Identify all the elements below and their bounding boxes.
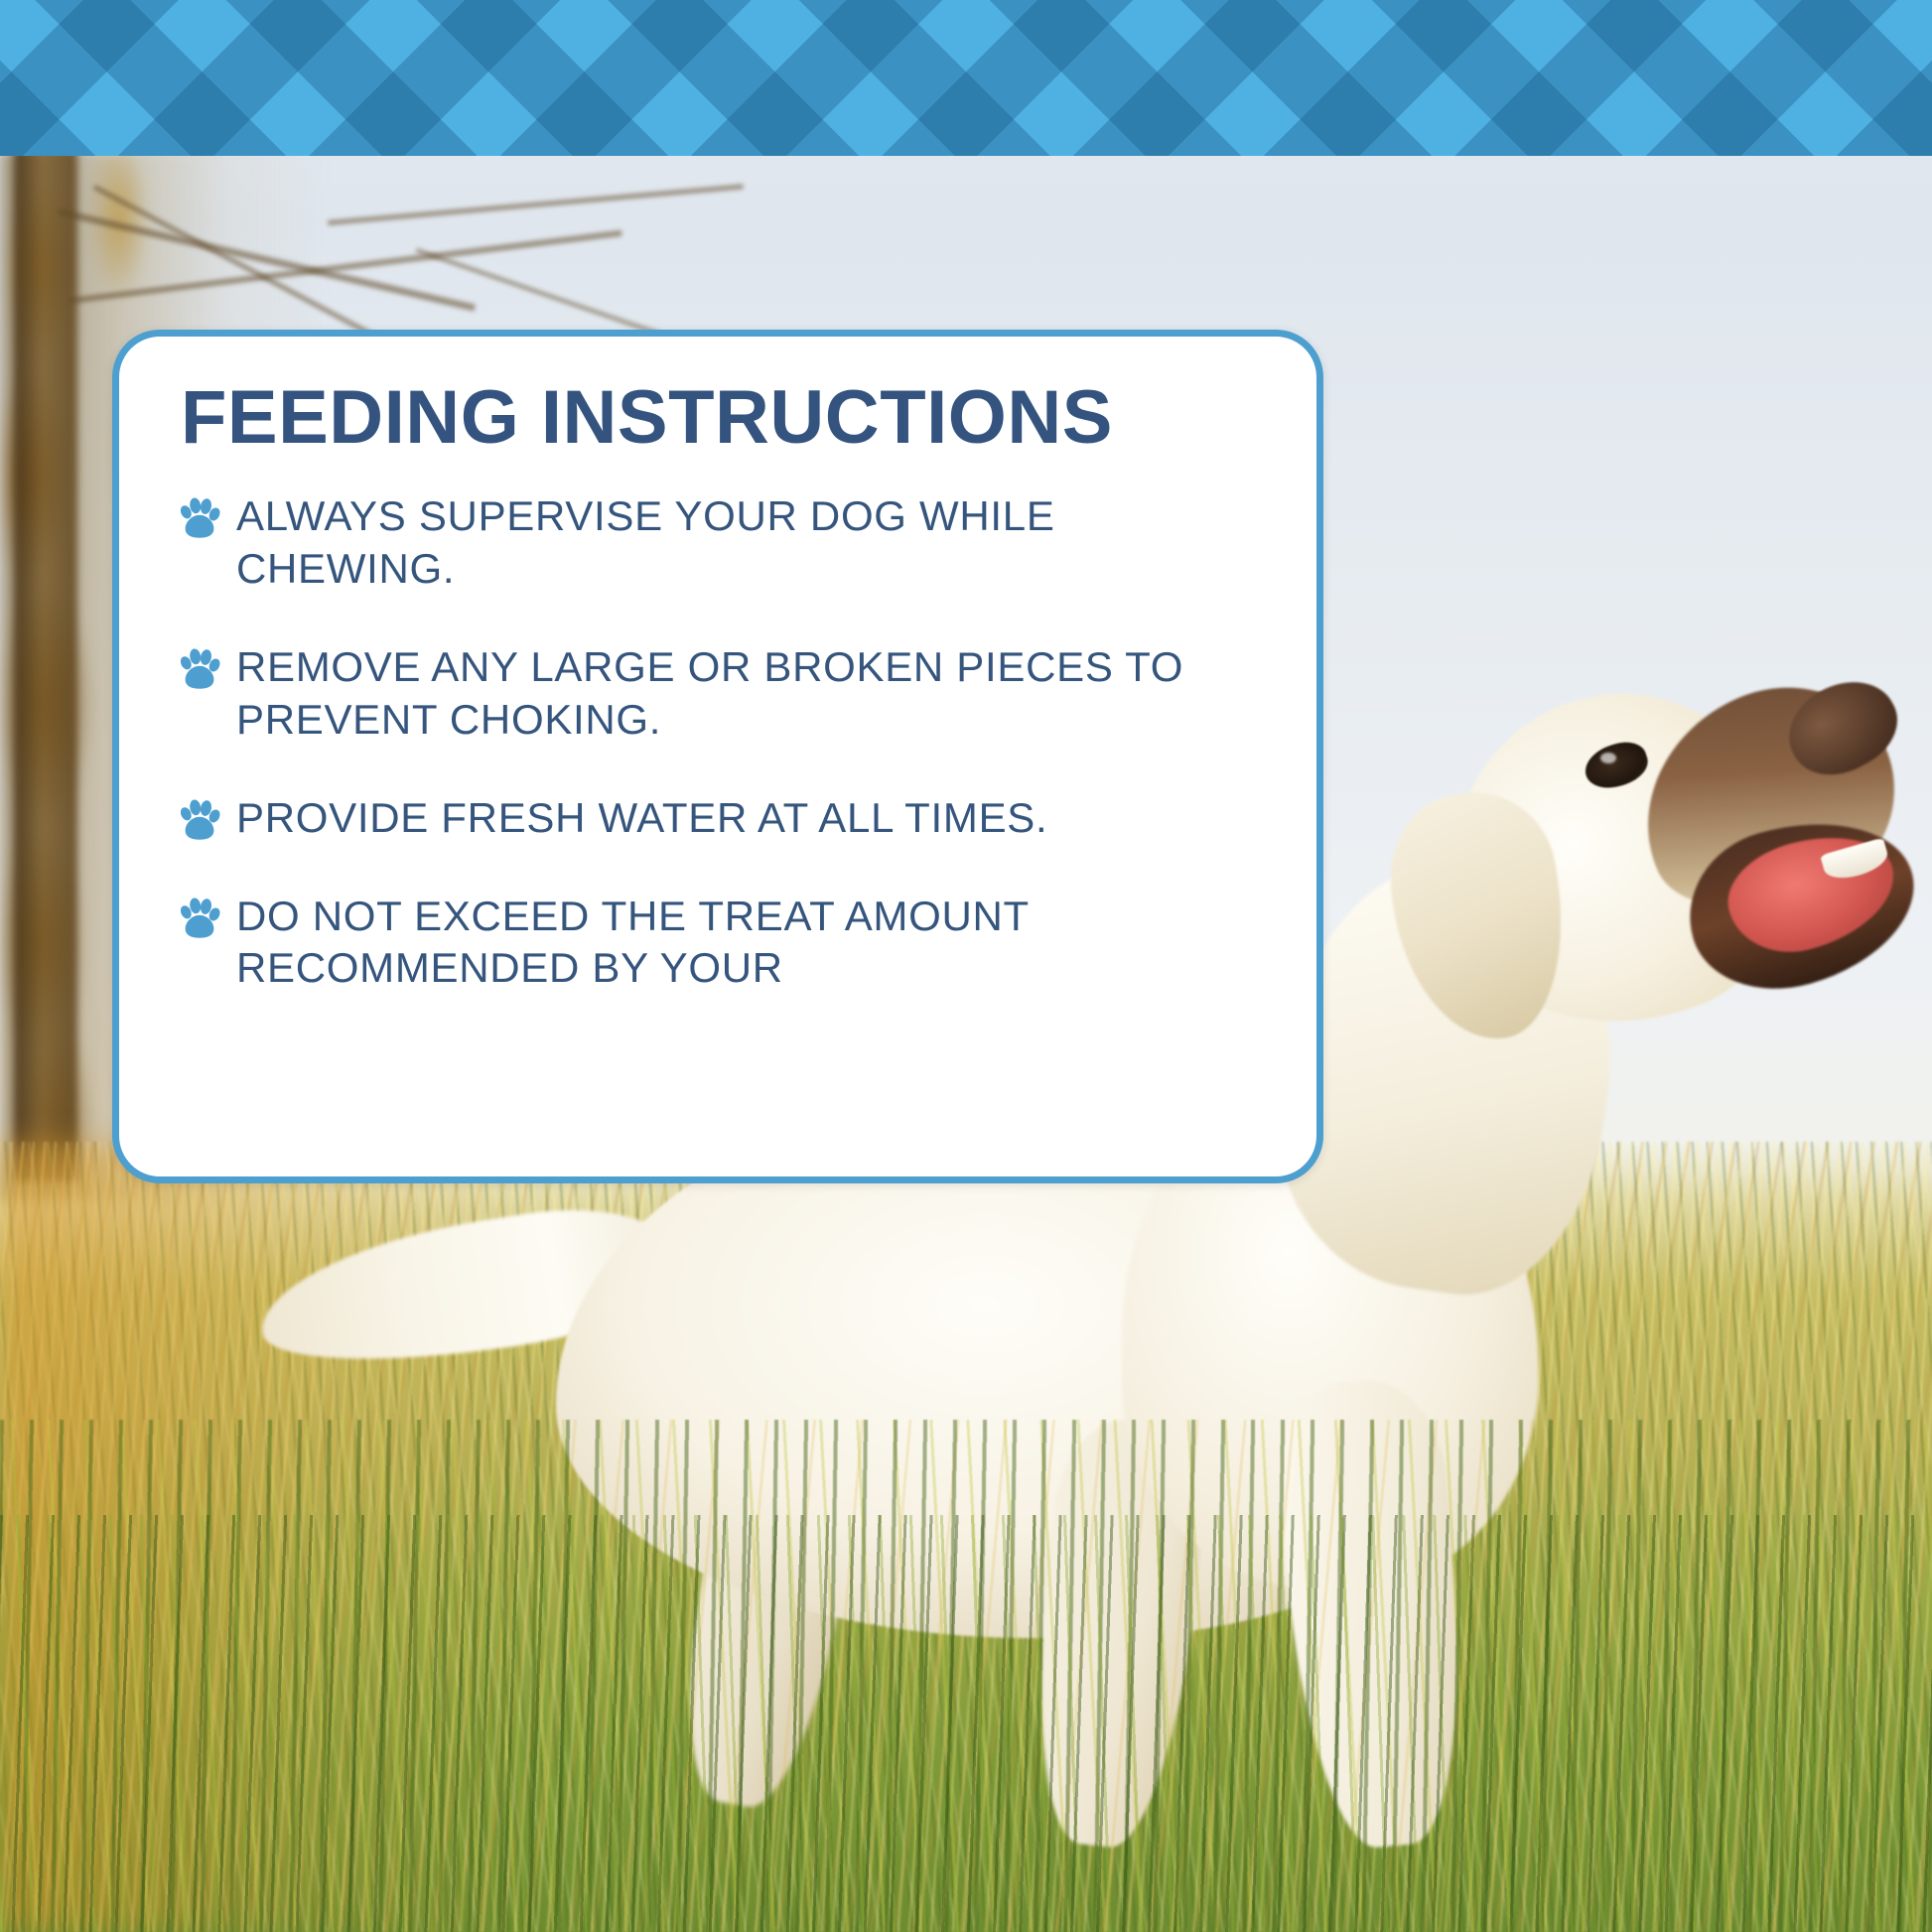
list-item: ALWAYS SUPERVISE YOUR DOG WHILE CHEWING. bbox=[177, 490, 1263, 596]
tree-trunk bbox=[14, 149, 77, 1181]
tree-branch bbox=[328, 184, 744, 225]
feeding-instructions-card: FEEDING INSTRUCTIONS ALWAYS SUPERVISE YO… bbox=[112, 330, 1323, 1183]
foreground-grass-front bbox=[0, 1515, 1932, 1932]
product-info-panel: FEEDING INSTRUCTIONS ALWAYS SUPERVISE YO… bbox=[0, 0, 1932, 1932]
gingham-header-band bbox=[0, 0, 1932, 156]
list-item-label: DO NOT EXCEED THE TREAT AMOUNT RECOMMEND… bbox=[236, 891, 1239, 996]
list-item-label: PROVIDE FRESH WATER AT ALL TIMES. bbox=[236, 792, 1047, 845]
dog-eye-highlight bbox=[1600, 753, 1616, 763]
list-item-label: ALWAYS SUPERVISE YOUR DOG WHILE CHEWING. bbox=[236, 490, 1239, 596]
list-item-label: REMOVE ANY LARGE OR BROKEN PIECES TO PRE… bbox=[236, 641, 1239, 747]
instruction-list: ALWAYS SUPERVISE YOUR DOG WHILE CHEWING.… bbox=[177, 490, 1263, 995]
paw-print-icon bbox=[177, 496, 222, 542]
list-item: DO NOT EXCEED THE TREAT AMOUNT RECOMMEND… bbox=[177, 891, 1263, 996]
list-item: REMOVE ANY LARGE OR BROKEN PIECES TO PRE… bbox=[177, 641, 1263, 747]
paw-print-icon bbox=[177, 647, 222, 693]
paw-print-icon bbox=[177, 798, 222, 844]
list-item: PROVIDE FRESH WATER AT ALL TIMES. bbox=[177, 792, 1263, 845]
page-title: FEEDING INSTRUCTIONS bbox=[181, 378, 1263, 457]
paw-print-icon bbox=[177, 897, 222, 942]
